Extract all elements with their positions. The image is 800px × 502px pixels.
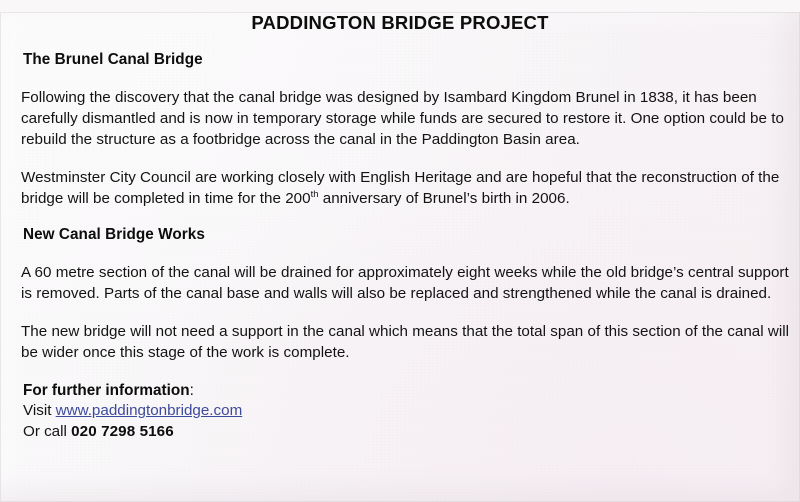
page-title: PADDINGTON BRIDGE PROJECT	[0, 12, 800, 34]
spacer	[0, 244, 800, 262]
phone-line: Or call 020 7298 5166	[23, 422, 780, 443]
paragraph-brunel-discovery: Following the discovery that the canal b…	[0, 87, 800, 150]
or-call-label: Or call	[23, 423, 71, 440]
footer-heading-label: For further information	[23, 382, 190, 399]
website-line: Visit www.paddingtonbridge.com	[23, 401, 780, 422]
scanned-document-page: PADDINGTON BRIDGE PROJECT The Brunel Can…	[0, 12, 800, 502]
paragraph-text-after-ordinal: anniversary of Brunel’s birth in 2006.	[319, 190, 570, 207]
paragraph-new-bridge-span: The new bridge will not need a support i…	[0, 321, 800, 363]
further-information-block: For further information: Visit www.paddi…	[0, 381, 800, 442]
spacer	[0, 69, 800, 87]
section-heading-new-canal-bridge-works: New Canal Bridge Works	[0, 226, 800, 244]
paragraph-canal-drainage: A 60 metre section of the canal will be …	[0, 262, 800, 304]
spacer	[0, 34, 800, 51]
footer-heading: For further information:	[23, 381, 780, 401]
paragraph-westminster-council: Westminster City Council are working clo…	[0, 167, 800, 209]
spacer	[0, 209, 800, 226]
section-heading-brunel-canal-bridge: The Brunel Canal Bridge	[0, 51, 800, 69]
visit-label: Visit	[23, 402, 56, 419]
spacer	[0, 150, 800, 167]
ordinal-suffix: th	[311, 188, 319, 199]
footer-heading-colon: :	[190, 382, 194, 399]
phone-number: 020 7298 5166	[71, 423, 174, 440]
website-link[interactable]: www.paddingtonbridge.com	[56, 402, 243, 419]
document-content: PADDINGTON BRIDGE PROJECT The Brunel Can…	[0, 12, 800, 442]
spacer	[0, 363, 800, 381]
spacer	[0, 304, 800, 321]
